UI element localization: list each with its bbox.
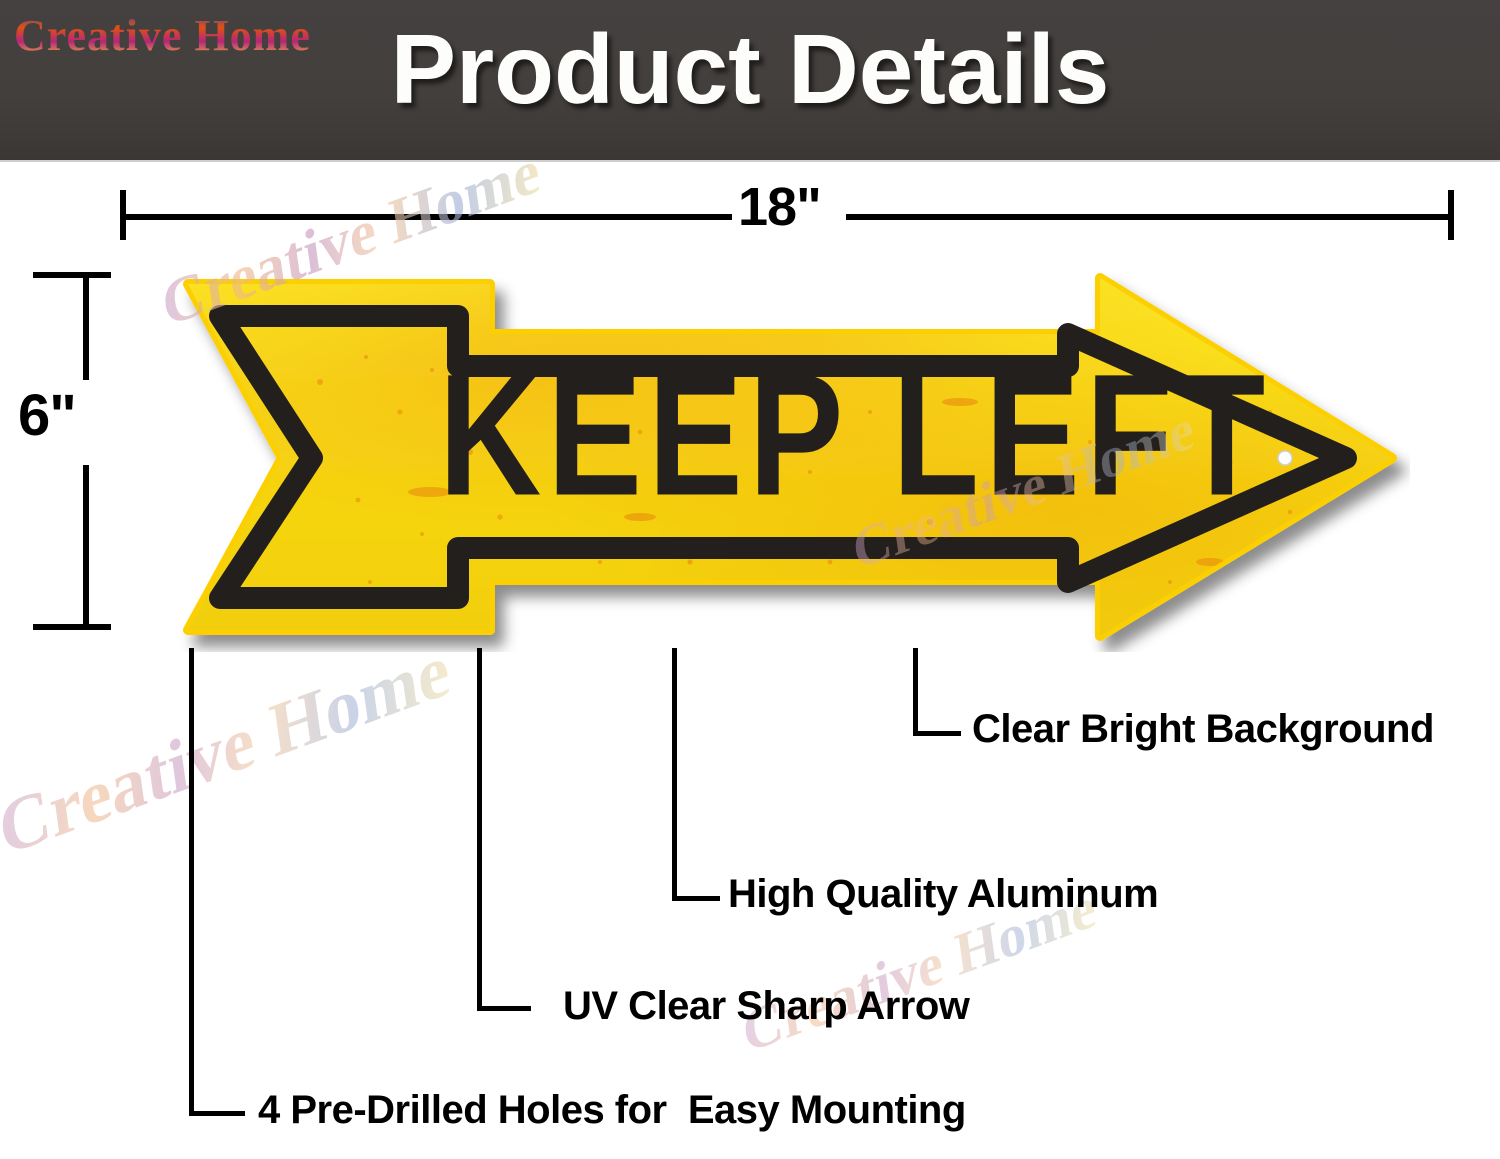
product-image-keep-left-arrow-sign: KEEP LEFT — [170, 262, 1410, 652]
height-dimension-label: 6" — [18, 382, 76, 449]
callout-holes-leader-vertical — [189, 648, 194, 1116]
watermark-creative-home: Creative Home — [0, 626, 455, 875]
callout-holes-leader-horizontal — [189, 1111, 245, 1116]
callout-aluminum-leader-horizontal — [672, 896, 720, 901]
callout-background-leader-horizontal — [913, 731, 961, 736]
height-dimension-line-upper — [83, 275, 89, 380]
arrow-sign-graphic — [170, 262, 1410, 652]
callout-background-leader-vertical — [913, 648, 918, 736]
callout-holes-label: 4 Pre-Drilled Holes for Easy Mounting — [258, 1088, 966, 1133]
width-dimension-tick-right — [1448, 190, 1454, 240]
callout-arrow-label: UV Clear Sharp Arrow — [563, 984, 969, 1029]
callout-arrow-leader-vertical — [477, 648, 482, 1011]
page-title: Product Details — [0, 18, 1500, 121]
height-dimension-cap-bottom — [33, 624, 111, 630]
mounting-hole-left — [449, 451, 463, 465]
callout-aluminum-leader-vertical — [672, 648, 677, 901]
height-dimension-line-lower — [83, 465, 89, 627]
callout-aluminum-label: High Quality Aluminum — [728, 872, 1158, 917]
product-details-page: Creative Home Product Details 18" 6" — [0, 0, 1500, 1159]
callout-background-label: Clear Bright Background — [972, 707, 1434, 752]
width-dimension-line-left — [122, 214, 732, 220]
header-band: Creative Home Product Details — [0, 0, 1500, 162]
width-dimension-tick-left — [120, 190, 126, 240]
width-dimension-label: 18" — [738, 176, 821, 238]
width-dimension-line-right — [846, 214, 1454, 220]
mounting-hole-right — [1278, 451, 1292, 465]
height-dimension-cap-top — [33, 272, 111, 278]
callout-arrow-leader-horizontal — [477, 1006, 531, 1011]
